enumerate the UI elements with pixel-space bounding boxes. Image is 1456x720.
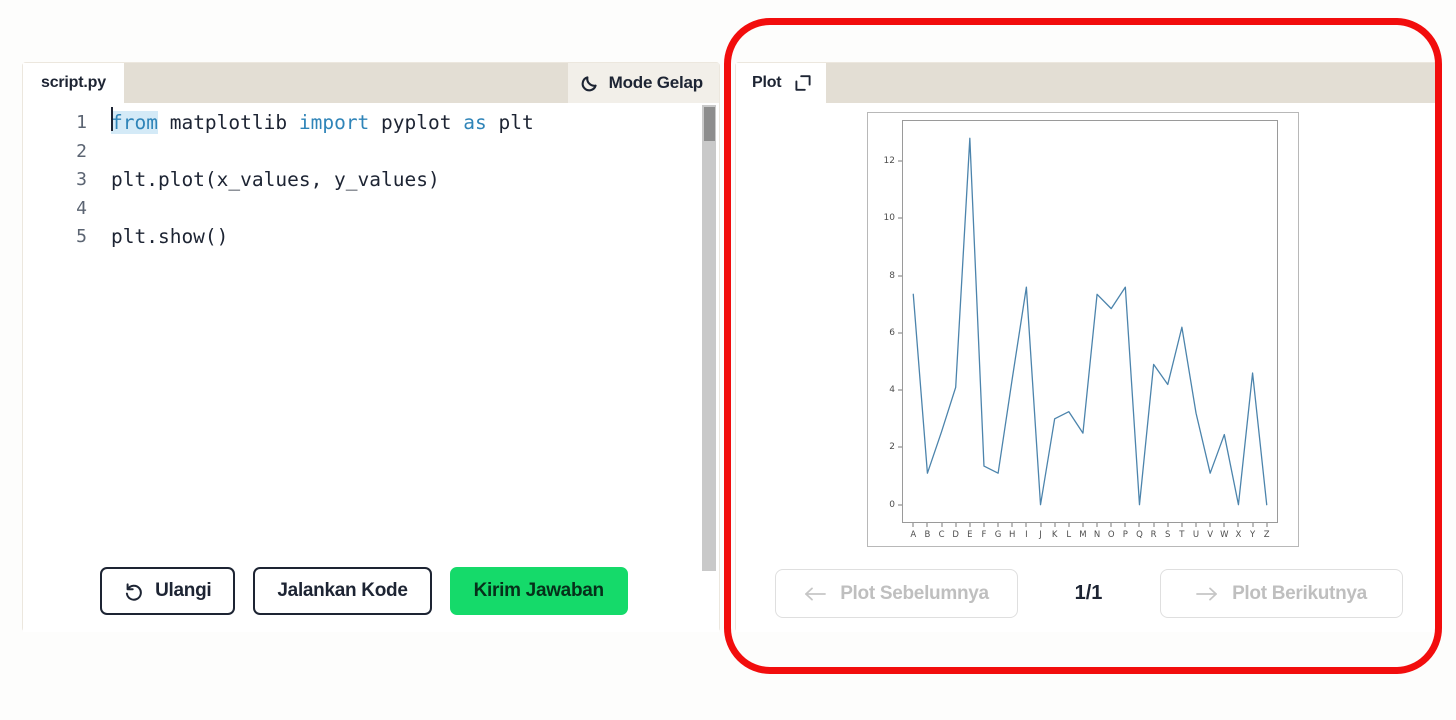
arrow-left-icon [803, 586, 827, 602]
code-token: as [463, 111, 486, 134]
x-axis-tick-label: I [1025, 530, 1028, 540]
code-line-text: plt.plot(x_values, y_values) [111, 166, 440, 195]
y-axis-tick-label: 10 [884, 213, 895, 223]
x-axis-tick-label: U [1193, 530, 1199, 540]
line-number: 2 [23, 138, 111, 167]
tab-plot-label: Plot [752, 74, 781, 92]
text-caret [111, 107, 113, 131]
x-axis-tick-label: G [995, 530, 1002, 540]
editor-action-buttons: Ulangi Jalankan Kode Kirim Jawaban [23, 567, 705, 615]
code-text-area[interactable]: 1from matplotlib import pyplot as plt23p… [23, 103, 719, 632]
y-axis-tick-label: 2 [889, 442, 895, 452]
x-axis-tick-label: T [1179, 530, 1184, 540]
x-axis-tick-label: M [1079, 530, 1086, 540]
code-line: 1from matplotlib import pyplot as plt [23, 109, 719, 138]
previous-plot-label: Plot Sebelumnya [840, 583, 989, 605]
line-number: 3 [23, 166, 111, 195]
x-axis-tick-label: D [952, 530, 959, 540]
x-axis-tick-mark [1026, 523, 1027, 527]
x-axis-tick-mark [1224, 523, 1225, 527]
x-axis-tick-mark [1125, 523, 1126, 527]
code-line: 3plt.plot(x_values, y_values) [23, 166, 719, 195]
x-axis-tick-label: J [1039, 530, 1042, 540]
tab-script-py[interactable]: script.py [23, 63, 124, 103]
x-axis-tick-mark [1040, 523, 1041, 527]
plot-navigation: Plot Sebelumnya 1/1 Plot Berikutnya [736, 569, 1441, 618]
editor-scrollbar-thumb[interactable] [704, 107, 715, 141]
y-axis-tick-label: 0 [889, 500, 895, 510]
x-axis-tick-mark [1153, 523, 1154, 527]
line-number: 5 [23, 223, 111, 252]
line-number: 4 [23, 195, 111, 224]
x-axis-tick-mark [927, 523, 928, 527]
y-axis-tick-label: 12 [884, 156, 895, 166]
arrow-right-icon [1195, 586, 1219, 602]
tab-script-py-label: script.py [41, 74, 106, 92]
app-root: script.py Mode Gelap 1from matplotlib im… [0, 0, 1456, 720]
x-axis-tick-mark [1181, 523, 1182, 527]
x-axis-tick-mark [1238, 523, 1239, 527]
x-axis-tick-mark [969, 523, 970, 527]
tab-bar-spacer [124, 63, 568, 103]
code-line: 2 [23, 138, 719, 167]
x-axis-tick-label: X [1236, 530, 1242, 540]
submit-answer-button[interactable]: Kirim Jawaban [450, 567, 628, 615]
run-code-button[interactable]: Jalankan Kode [253, 567, 431, 615]
run-code-button-label: Jalankan Kode [277, 580, 407, 602]
x-axis-tick-mark [1167, 523, 1168, 527]
next-plot-button[interactable]: Plot Berikutnya [1160, 569, 1403, 618]
y-axis-tick-mark [898, 275, 902, 276]
editor-tab-bar: script.py Mode Gelap [23, 63, 719, 103]
x-axis-tick-mark [1012, 523, 1013, 527]
x-axis-tick-mark [1139, 523, 1140, 527]
x-axis-tick-label: W [1220, 530, 1228, 540]
x-axis-tick-mark [1111, 523, 1112, 527]
x-axis-tick-label: E [967, 530, 972, 540]
y-axis-tick-mark [898, 161, 902, 162]
code-token: from [111, 111, 158, 134]
x-axis-tick-label: Q [1136, 530, 1143, 540]
y-axis-tick-mark [898, 390, 902, 391]
x-axis-tick-mark [1082, 523, 1083, 527]
x-axis-tick-label: K [1052, 530, 1058, 540]
line-series [902, 120, 1278, 523]
x-axis-tick-label: V [1207, 530, 1213, 540]
x-axis-tick-label: S [1165, 530, 1170, 540]
matplotlib-figure: 024681012ABCDEFGHIJKLMNOPQRSTUVWXYZ [867, 112, 1299, 547]
x-axis-tick-mark [1266, 523, 1267, 527]
x-axis-tick-label: F [982, 530, 987, 540]
x-axis-tick-mark [1054, 523, 1055, 527]
code-line: 5plt.show() [23, 223, 719, 252]
code-token: plt [487, 111, 534, 134]
reset-button-label: Ulangi [155, 580, 211, 602]
x-axis-tick-mark [913, 523, 914, 527]
plot-tab-bar: Plot [736, 63, 1441, 103]
submit-answer-button-label: Kirim Jawaban [474, 580, 604, 602]
x-axis-tick-label: O [1108, 530, 1115, 540]
x-axis-tick-mark [955, 523, 956, 527]
x-axis-tick-mark [1196, 523, 1197, 527]
x-axis-tick-label: C [939, 530, 945, 540]
dark-mode-label: Mode Gelap [609, 73, 703, 93]
y-axis-tick-mark [898, 332, 902, 333]
code-token: pyplot [369, 111, 463, 134]
previous-plot-button[interactable]: Plot Sebelumnya [775, 569, 1018, 618]
code-token: plt.show() [111, 225, 228, 248]
reset-button[interactable]: Ulangi [100, 567, 235, 615]
y-axis-tick-label: 8 [889, 271, 895, 281]
editor-scrollbar[interactable] [702, 105, 716, 571]
x-axis-tick-mark [1097, 523, 1098, 527]
x-axis-tick-mark [998, 523, 999, 527]
plot-body: 024681012ABCDEFGHIJKLMNOPQRSTUVWXYZ Plot… [736, 103, 1441, 632]
x-axis-tick-mark [983, 523, 984, 527]
tab-plot[interactable]: Plot [736, 63, 826, 103]
x-axis-tick-label: H [1009, 530, 1015, 540]
x-axis-tick-mark [1252, 523, 1253, 527]
code-line-text: from matplotlib import pyplot as plt [111, 109, 534, 138]
code-lines: 1from matplotlib import pyplot as plt23p… [23, 109, 719, 252]
x-axis-tick-label: Y [1250, 530, 1255, 540]
code-line-text: plt.show() [111, 223, 228, 252]
plot-panel: Plot 024681012ABCDEFGHIJKLMNOPQRSTUVWXYZ [735, 62, 1442, 632]
x-axis-tick-label: N [1094, 530, 1100, 540]
code-token: plt.plot(x_values, y_values) [111, 168, 440, 191]
chart-axes: 024681012ABCDEFGHIJKLMNOPQRSTUVWXYZ [902, 120, 1278, 523]
x-axis-tick-label: P [1123, 530, 1128, 540]
code-editor-panel: script.py Mode Gelap 1from matplotlib im… [22, 62, 720, 632]
dark-mode-toggle[interactable]: Mode Gelap [568, 63, 719, 103]
x-axis-tick-mark [1068, 523, 1069, 527]
y-axis-tick-label: 6 [889, 328, 895, 338]
plot-counter: 1/1 [1018, 582, 1160, 605]
code-line: 4 [23, 195, 719, 224]
code-token: matplotlib [158, 111, 299, 134]
x-axis-tick-mark [1210, 523, 1211, 527]
next-plot-label: Plot Berikutnya [1232, 583, 1367, 605]
x-axis-tick-label: Z [1264, 530, 1270, 540]
undo-icon [124, 581, 145, 602]
code-token: import [299, 111, 369, 134]
expand-icon[interactable] [794, 74, 812, 92]
moon-icon [580, 73, 600, 93]
y-axis-tick-mark [898, 218, 902, 219]
y-axis-tick-label: 4 [889, 385, 895, 395]
line-number: 1 [23, 109, 111, 138]
x-axis-tick-label: A [910, 530, 916, 540]
x-axis-tick-label: R [1151, 530, 1157, 540]
x-axis-tick-label: L [1066, 530, 1071, 540]
chart-line [913, 138, 1266, 504]
x-axis-tick-mark [941, 523, 942, 527]
y-axis-tick-mark [898, 447, 902, 448]
y-axis-tick-mark [898, 504, 902, 505]
x-axis-tick-label: B [924, 530, 930, 540]
